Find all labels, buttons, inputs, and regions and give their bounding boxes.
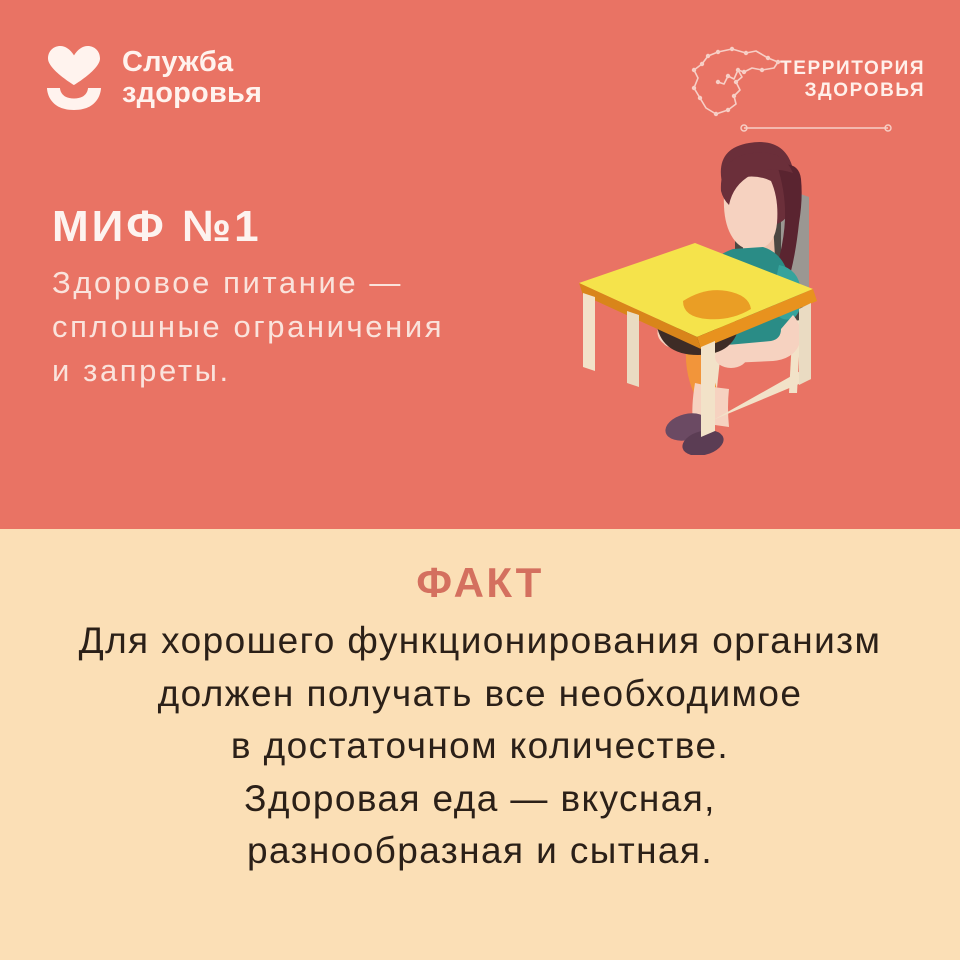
brand-line-1: Служба xyxy=(122,47,262,78)
territory-line-1: ТЕРРИТОРИЯ xyxy=(780,58,925,80)
myth-line-1: Здоровое питание — xyxy=(52,261,552,305)
fact-body: Для хорошего функционирования организм д… xyxy=(0,615,960,878)
brand-logo: Служба здоровья xyxy=(44,44,262,112)
illustration-woman-eating-salad xyxy=(565,125,865,455)
fact-label: ФАКТ xyxy=(0,562,960,604)
territory-line-2: ЗДОРОВЬЯ xyxy=(805,80,926,102)
myth-block: МИФ №1 Здоровое питание — сплошные огран… xyxy=(52,205,552,393)
myth-title: МИФ №1 xyxy=(52,205,552,249)
myth-body: Здоровое питание — сплошные ограничения … xyxy=(52,261,552,393)
myth-line-3: и запреты. xyxy=(52,349,552,393)
territory-wordmark: ТЕРРИТОРИЯ ЗДОРОВЬЯ xyxy=(780,58,925,102)
heart-smile-icon xyxy=(44,44,104,112)
poster-canvas: Служба здоровья xyxy=(0,0,960,960)
brand-line-2: здоровья xyxy=(122,78,262,109)
fact-line-1: Для хорошего функционирования организм xyxy=(0,615,960,668)
territory-logo: ТЕРРИТОРИЯ ЗДОРОВЬЯ xyxy=(688,46,903,124)
fact-line-5: разнообразная и сытная. xyxy=(0,825,960,878)
fact-line-2: должен получать все необходимое xyxy=(0,668,960,721)
myth-line-2: сплошные ограничения xyxy=(52,305,552,349)
fact-line-4: Здоровая еда — вкусная, xyxy=(0,773,960,826)
territory-underline xyxy=(740,119,892,122)
territory-map-icon xyxy=(688,46,788,129)
brand-wordmark: Служба здоровья xyxy=(122,47,262,110)
fact-line-3: в достаточном количестве. xyxy=(0,720,960,773)
